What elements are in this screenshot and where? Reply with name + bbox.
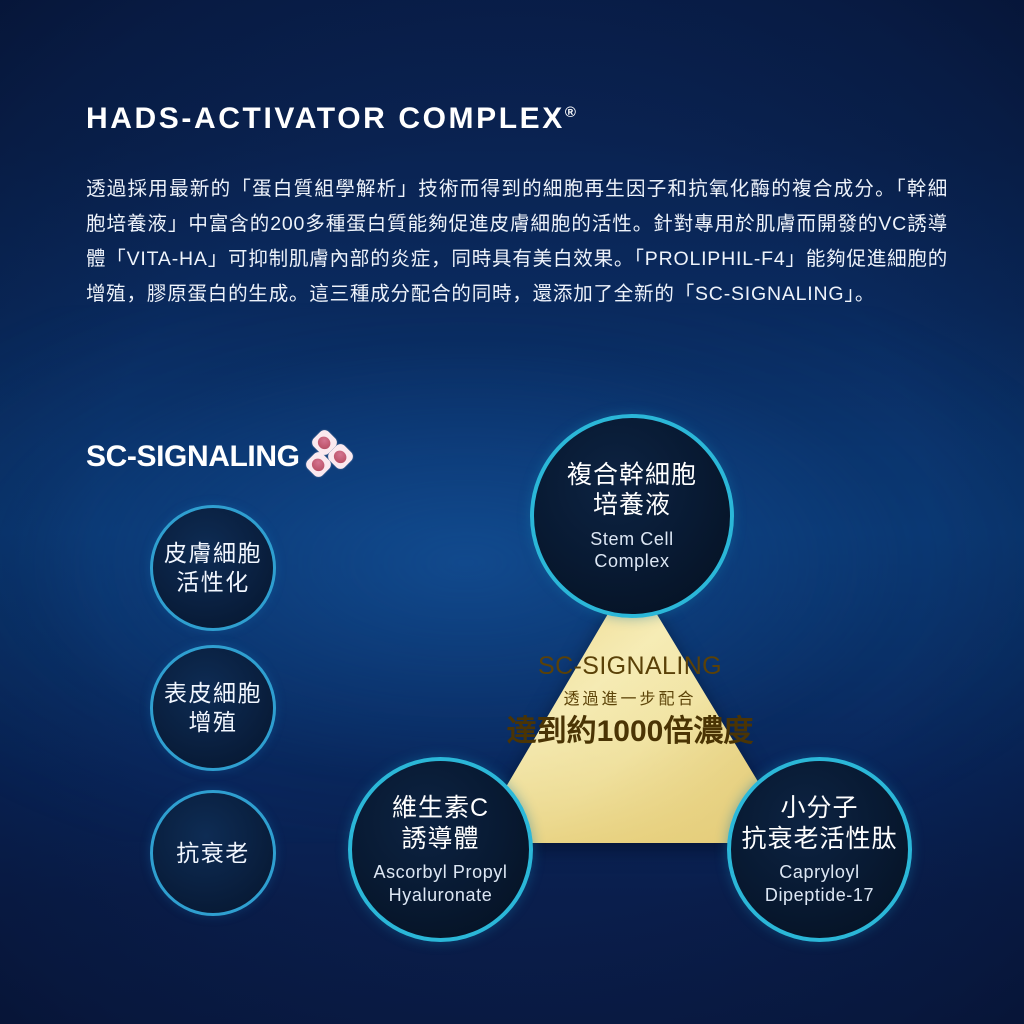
triangle-text-block: SC-SIGNALING 透過進一步配合 達到約1000倍濃度 [455, 653, 805, 750]
circle-peptide-en-line1: Capryloyl [779, 861, 859, 884]
circle-vitc-zh-line1: 維生素C [392, 793, 489, 824]
circle-vitamin-c-derivative[interactable]: 維生素C 誘導體 Ascorbyl Propyl Hyaluronate [348, 757, 533, 942]
circle-stem-zh-line2: 培養液 [593, 490, 671, 521]
three-cell-diamond-icon [302, 432, 352, 482]
triangle-line-2: 透過進一步配合 [455, 691, 805, 709]
circle-skin-zh-line2: 活性化 [176, 568, 250, 597]
circle-peptide-zh-line2: 抗衰老活性肽 [741, 824, 897, 855]
circle-epidermis-zh-line2: 增殖 [189, 708, 238, 737]
circle-stem-cell-complex[interactable]: 複合幹細胞 培養液 Stem Cell Complex [530, 414, 734, 618]
circle-anti-aging-peptide[interactable]: 小分子 抗衰老活性肽 Capryloyl Dipeptide-17 [727, 757, 912, 942]
sc-signaling-logo: SC-SIGNALING [86, 434, 352, 480]
circle-vitc-zh-line2: 誘導體 [401, 824, 479, 855]
circle-peptide-en-line2: Dipeptide-17 [765, 884, 874, 907]
circle-epidermal-proliferation[interactable]: 表皮細胞 增殖 [150, 645, 276, 771]
circle-stem-zh-line1: 複合幹細胞 [567, 460, 697, 491]
circle-skin-zh-line1: 皮膚細胞 [164, 539, 262, 568]
circle-antiaging-zh-line1: 抗衰老 [176, 839, 250, 868]
triangle-line-3: 達到約1000倍濃度 [455, 715, 805, 750]
sc-signaling-wordmark: SC-SIGNALING [86, 442, 300, 472]
triangle-line-1: SC-SIGNALING [455, 653, 805, 681]
description-block: 透過採用最新的「蛋白質組學解析」技術而得到的細胞再生因子和抗氧化酶的複合成分。「… [86, 172, 948, 312]
circle-vitc-en-line2: Hyaluronate [389, 884, 493, 907]
circle-stem-en-line1: Stem Cell [590, 528, 673, 551]
page-title: HADS-ACTIVATOR COMPLEX® [86, 104, 946, 134]
header: HADS-ACTIVATOR COMPLEX® [86, 104, 946, 134]
page-title-text: HADS-ACTIVATOR COMPLEX [86, 102, 565, 135]
circle-epidermis-zh-line1: 表皮細胞 [164, 679, 262, 708]
registered-trademark-icon: ® [565, 104, 576, 121]
circle-stem-en-line2: Complex [594, 550, 669, 573]
circle-skin-cell-activation[interactable]: 皮膚細胞 活性化 [150, 505, 276, 631]
circle-vitc-en-line1: Ascorbyl Propyl [373, 861, 507, 884]
circle-anti-aging[interactable]: 抗衰老 [150, 790, 276, 916]
circle-peptide-zh-line1: 小分子 [780, 793, 858, 824]
infographic-canvas: HADS-ACTIVATOR COMPLEX® 透過採用最新的「蛋白質組學解析」… [0, 0, 1024, 1024]
description-paragraph: 透過採用最新的「蛋白質組學解析」技術而得到的細胞再生因子和抗氧化酶的複合成分。「… [86, 172, 948, 312]
